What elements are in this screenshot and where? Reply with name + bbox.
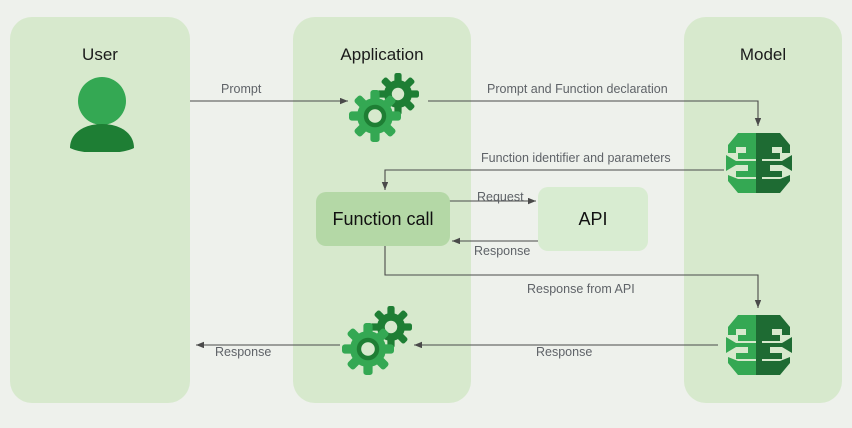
edge-prompt-and-function-declaration [428, 101, 758, 126]
edge-label-api-response: Response [474, 244, 530, 258]
edge-response-from-api [385, 241, 758, 308]
edge-label-model-response: Response [536, 345, 592, 359]
api-box[interactable]: API [538, 187, 648, 251]
edge-label-response-from-api: Response from API [527, 282, 635, 296]
api-label: API [578, 209, 607, 230]
edge-label-function-identifier-and-parameters: Function identifier and parameters [481, 151, 671, 165]
edge-label-request: Request [477, 190, 524, 204]
function-call-label: Function call [332, 209, 433, 230]
edge-label-app-response: Response [215, 345, 271, 359]
function-call-box[interactable]: Function call [316, 192, 450, 246]
edge-label-prompt: Prompt [221, 82, 261, 96]
edge-label-prompt-and-function-declaration: Prompt and Function declaration [487, 82, 668, 96]
diagram-canvas: User Application Model [0, 0, 852, 428]
